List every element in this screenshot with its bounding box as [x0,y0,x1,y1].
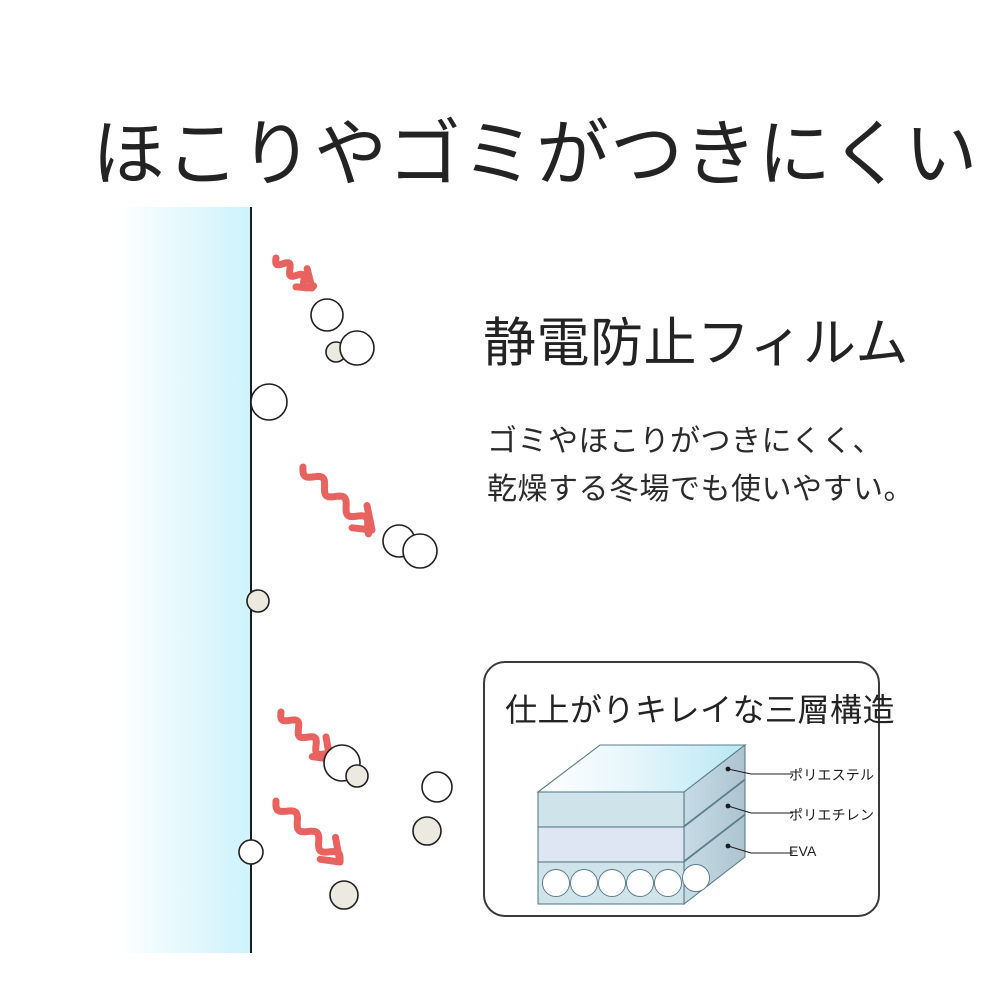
dust-particle [403,534,437,568]
feature-title: 静電防止フィルム [483,310,909,378]
dust-particle [422,772,452,802]
layer-label-polyester: ポリエステル [789,765,874,785]
block-front-face-polyester [538,792,684,827]
dust-particle [346,765,368,787]
layer-label-eva: EVA [789,843,817,859]
arrow-2-shaft [303,467,369,534]
infographic-canvas: ほこりやゴミがつきにくい 静電防止フィルム ゴミやほこりがつきにくく、 乾燥する… [0,0,1000,1000]
feature-description-line-1: ゴミやほこりがつきにくく、 [487,418,914,466]
feature-description: ゴミやほこりがつきにくく、 乾燥する冬場でも使いやすい。 [487,418,914,514]
dust-particle [340,331,374,365]
block-front-face-polyethylene [538,827,684,862]
dust-particle [311,299,343,331]
dust-particle [413,817,441,845]
three-layer-block-diagram [483,661,880,917]
dust-particle [247,590,269,612]
feature-description-line-2: 乾燥する冬場でも使いやすい。 [487,466,914,514]
dust-particle [239,840,263,864]
dust-particle [330,881,358,909]
arrow-4-shaft [276,801,340,862]
dust-particle [251,384,287,420]
dust-particles [239,299,452,909]
layer-label-polyethylene: ポリエチレン [789,805,874,825]
